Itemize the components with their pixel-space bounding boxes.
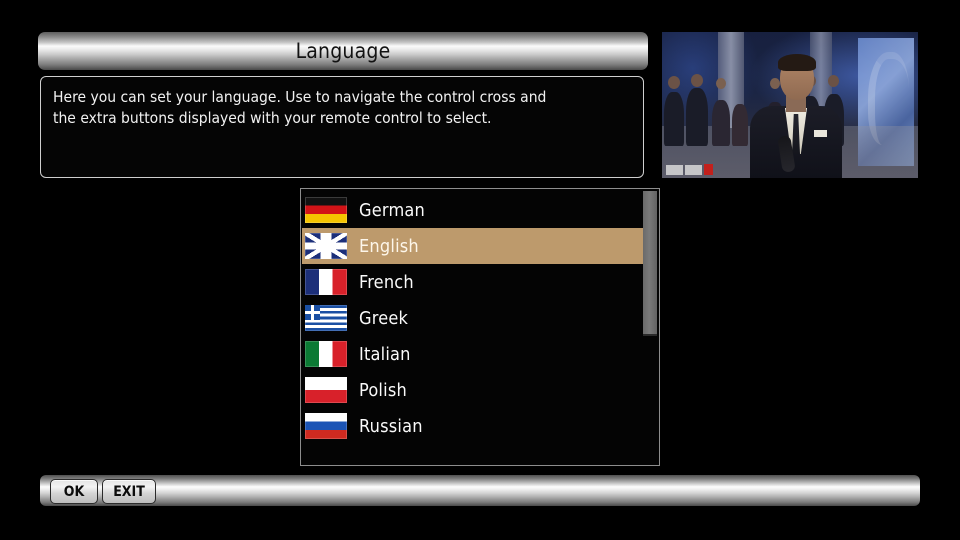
language-rows: German English French Greek Italian Poli <box>302 192 645 444</box>
list-item-label: French <box>359 272 414 293</box>
exit-button[interactable]: EXIT <box>102 479 156 504</box>
list-item[interactable]: Russian <box>302 408 645 444</box>
list-item-label: English <box>359 236 419 257</box>
description-line-2: the extra buttons displayed with your re… <box>53 108 631 129</box>
greek-flag-icon <box>305 305 347 331</box>
list-item-label: Italian <box>359 344 411 365</box>
tv-settings-screen: Language Here you can set your language.… <box>0 0 960 540</box>
list-item[interactable]: German <box>302 192 645 228</box>
list-item[interactable]: French <box>302 264 645 300</box>
ok-button[interactable]: OK <box>50 479 98 504</box>
page-title: Language <box>296 39 391 63</box>
russian-flag-icon <box>305 413 347 439</box>
italian-flag-icon <box>305 341 347 367</box>
channel-bug <box>666 164 713 175</box>
video-pocket-square <box>814 130 827 137</box>
german-flag-icon <box>305 197 347 223</box>
title-bar: Language <box>38 32 648 70</box>
language-listbox[interactable]: German English French Greek Italian Poli <box>300 188 660 466</box>
list-item-label: Polish <box>359 380 407 401</box>
list-item[interactable]: English <box>302 228 645 264</box>
list-scrollbar[interactable] <box>643 191 657 463</box>
description-panel: Here you can set your language. Use to n… <box>40 76 644 178</box>
french-flag-icon <box>305 269 347 295</box>
video-reporter-hair <box>778 54 816 71</box>
list-item[interactable]: Polish <box>302 372 645 408</box>
description-line-1: Here you can set your language. Use to n… <box>53 87 631 108</box>
bottom-button-bar: OK EXIT <box>40 475 920 506</box>
list-item[interactable]: Italian <box>302 336 645 372</box>
list-item-label: Russian <box>359 416 423 437</box>
video-preview[interactable] <box>662 32 918 178</box>
scrollbar-thumb[interactable] <box>643 191 657 336</box>
list-item-label: Greek <box>359 308 408 329</box>
english-flag-icon <box>305 233 347 259</box>
list-item[interactable]: Greek <box>302 300 645 336</box>
polish-flag-icon <box>305 377 347 403</box>
list-item-label: German <box>359 200 425 221</box>
